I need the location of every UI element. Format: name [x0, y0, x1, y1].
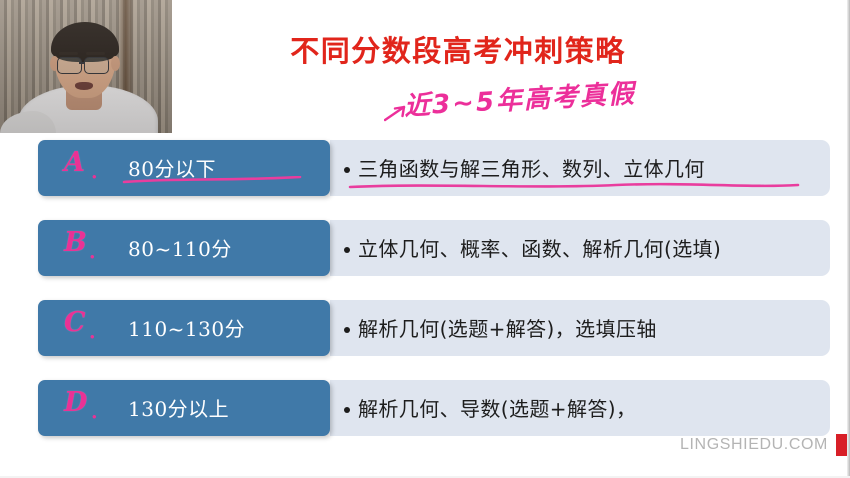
table-row: 三角函数与解三角形、数列、立体几何 A . 80分以下 [0, 140, 850, 196]
row-detail-panel: 三角函数与解三角形、数列、立体几何 [330, 140, 830, 196]
row-detail-panel: 解析几何、导数(选题+解答)， [330, 380, 830, 436]
webcam-vignette [0, 0, 172, 133]
row-score-band: A . 80分以下 [38, 140, 330, 196]
row-detail-text: 三角函数与解三角形、数列、立体几何 [344, 153, 705, 182]
table-row: 解析几何、导数(选题+解答)， D . 130分以上 [0, 380, 850, 436]
row-score-range: 80~110分 [128, 233, 232, 262]
row-letter-dot: . [88, 234, 97, 265]
row-detail-text: 解析几何(选题+解答)，选填压轴 [344, 313, 657, 342]
row-letter-marker: A [64, 147, 85, 178]
row-score-band: C . 110~130分 [38, 300, 330, 356]
slide-title: 不同分数段高考冲刺策略 [248, 28, 668, 70]
pink-underline-annotation [348, 182, 800, 190]
row-score-range: 80分以下 [128, 153, 216, 182]
row-detail-text: 解析几何、导数(选题+解答)， [344, 393, 636, 422]
bullet-icon [344, 327, 350, 333]
watermark-text: LINGSHIEDU.COM [680, 436, 828, 454]
row-detail-label: 三角函数与解三角形、数列、立体几何 [358, 157, 705, 181]
bullet-icon [344, 407, 350, 413]
row-detail-panel: 立体几何、概率、函数、解析几何(选填) [330, 220, 830, 276]
bullet-icon [344, 247, 350, 253]
row-detail-label: 解析几何、导数(选题+解答)， [358, 397, 636, 421]
handwritten-annotation: 近3~5年高考真假 [403, 73, 637, 123]
row-score-band: D . 130分以上 [38, 380, 330, 436]
row-score-range: 130分以上 [128, 393, 229, 422]
row-detail-text: 立体几何、概率、函数、解析几何(选填) [344, 233, 721, 262]
row-detail-panel: 解析几何(选题+解答)，选填压轴 [330, 300, 830, 356]
presentation-slide: 不同分数段高考冲刺策略 近3~5年高考真假 三角函数与解三角形、数列、立体几何 … [0, 0, 850, 478]
row-detail-label: 立体几何、概率、函数、解析几何(选填) [358, 237, 721, 261]
table-row: 解析几何(选题+解答)，选填压轴 C . 110~130分 [0, 300, 850, 356]
row-score-band: B . 80~110分 [38, 220, 330, 276]
row-detail-label: 解析几何(选题+解答)，选填压轴 [358, 317, 657, 341]
row-letter-dot: . [88, 314, 97, 345]
bullet-icon [344, 167, 350, 173]
row-letter-marker: C [64, 307, 86, 338]
presenter-webcam-overlay[interactable] [0, 0, 172, 133]
table-row: 立体几何、概率、函数、解析几何(选填) B . 80~110分 [0, 220, 850, 276]
row-score-range: 110~130分 [128, 313, 245, 342]
row-letter-marker: B [64, 227, 87, 258]
row-letter-dot: . [90, 154, 99, 185]
row-letter-dot: . [90, 394, 99, 425]
row-letter-marker: D [64, 387, 87, 418]
